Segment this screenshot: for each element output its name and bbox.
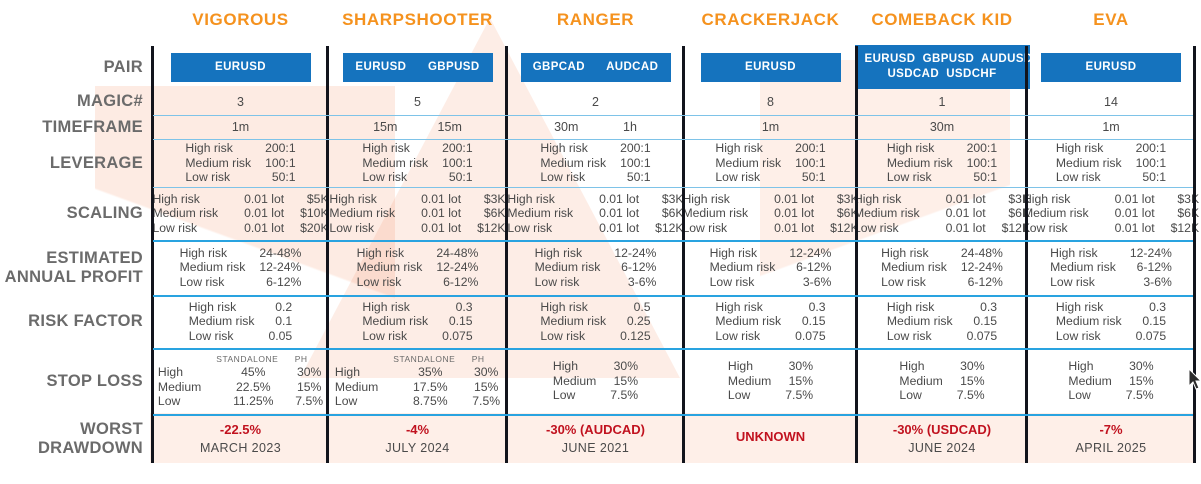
annual-profit-low: 3-6% xyxy=(789,275,831,290)
scaling-table: High risk0.01 lot$3KMedium risk0.01 lot$… xyxy=(682,192,858,236)
stop-loss-row: Medium15% xyxy=(899,374,984,389)
timeframe-value: 1m xyxy=(232,120,249,134)
scaling-amount-high: $3K xyxy=(639,192,683,207)
annual-profit-low: 6-12% xyxy=(259,275,301,290)
risk-label-high: High risk xyxy=(887,141,967,156)
scaling-amount-medium: $6K xyxy=(814,206,858,221)
stop-loss-standalone-header: STANDALONE xyxy=(215,353,279,365)
risk-row: High risk0.5 xyxy=(540,300,650,315)
risk-label-high: High risk xyxy=(189,300,269,315)
risk-label-medium: Medium risk xyxy=(189,314,269,329)
column-separator xyxy=(1025,46,1028,463)
annual-profit-medium: 6-12% xyxy=(614,260,656,275)
risk-row: Medium risk12-24% xyxy=(180,260,302,275)
worst-drawdown-value: UNKNOWN xyxy=(736,429,805,444)
row-label-timeframe: TIMEFRAME xyxy=(0,115,143,139)
annual-profit-medium: 12-24% xyxy=(436,260,478,275)
stop-loss-standalone-medium: 22.5% xyxy=(215,380,279,395)
stop-loss-label-low: Low xyxy=(158,394,215,409)
risk-row: Medium risk0.01 lot$6K xyxy=(507,206,683,221)
annual-profit-high: 12-24% xyxy=(614,246,656,261)
leverage-high: 200:1 xyxy=(795,141,826,156)
column-separator xyxy=(326,46,329,463)
spacer xyxy=(158,353,215,365)
risk-factor-high: 0.3 xyxy=(967,300,998,315)
risk-factor-medium: 0.15 xyxy=(795,314,826,329)
scaling-table: High risk0.01 lot$3KMedium risk0.01 lot$… xyxy=(507,192,683,236)
stop-loss-label-high: High xyxy=(553,359,610,374)
risk-row: Low risk0.075 xyxy=(715,329,825,344)
risk-row: Medium risk100:1 xyxy=(362,156,472,171)
column-separator xyxy=(682,46,685,463)
stop-loss-standalone-low: 11.25% xyxy=(215,394,279,409)
stop-loss-standalone-low: 7.5% xyxy=(1126,388,1154,403)
risk-row: Medium risk0.01 lot$6K xyxy=(682,206,858,221)
pair-cell: EURUSD GBPUSD AUDUSD USDCAD USDCHF xyxy=(857,46,1027,88)
risk-label-high: High risk xyxy=(1056,141,1136,156)
stop-loss-cell: High30%Medium15%Low7.5% xyxy=(857,348,1027,414)
stop-loss-standalone-high: 45% xyxy=(215,365,279,380)
risk-label-medium: Medium risk xyxy=(329,206,409,221)
worst-drawdown-value: -30% (USDCAD) xyxy=(893,422,991,437)
stop-loss-table: STANDALONEPHHigh35%30%Medium17.5%15%Low8… xyxy=(335,353,500,409)
risk-label-medium: Medium risk xyxy=(1050,260,1130,275)
risk-row: High risk24-48% xyxy=(881,246,1003,261)
risk-label-medium: Medium risk xyxy=(362,156,442,171)
risk-label-high: High risk xyxy=(715,141,795,156)
column-header-eva: EVA xyxy=(1027,8,1195,32)
risk-label-medium: Medium risk xyxy=(854,206,934,221)
stop-loss-cell: High30%Medium15%Low7.5% xyxy=(1027,348,1195,414)
magic-number-cell: 2 xyxy=(507,88,684,115)
pair-cell: EURUSD xyxy=(684,46,857,88)
row-separator xyxy=(153,240,1193,242)
risk-factor-low: 0.075 xyxy=(967,329,998,344)
risk-factor-table: High risk0.2Medium risk0.1Low risk0.05 xyxy=(189,300,292,344)
magic-number-cell: 14 xyxy=(1027,88,1195,115)
pair-chip[interactable]: EURUSD xyxy=(1041,53,1181,82)
leverage-table: High risk200:1Medium risk100:1Low risk50… xyxy=(362,141,472,185)
risk-row: Low risk50:1 xyxy=(1056,170,1166,185)
leverage-low: 50:1 xyxy=(967,170,998,185)
risk-factor-medium: 0.15 xyxy=(1136,314,1167,329)
risk-row: Medium risk0.15 xyxy=(1056,314,1166,329)
risk-label-low: Low risk xyxy=(854,221,934,236)
risk-row: Low risk50:1 xyxy=(715,170,825,185)
column-header-comeback-kid: COMEBACK KID xyxy=(857,8,1027,32)
magic-number-cell: 5 xyxy=(328,88,507,115)
stop-loss-table: STANDALONEPHHigh45%30%Medium22.5%15%Low1… xyxy=(158,353,323,409)
column-header-vigorous: VIGOROUS xyxy=(153,8,328,32)
annual-profit-table: High risk12-24%Medium risk6-12%Low risk3… xyxy=(710,246,832,290)
annual-profit-table: High risk12-24%Medium risk6-12%Low risk3… xyxy=(535,246,657,290)
stop-loss-standalone-low: 8.75% xyxy=(392,394,456,409)
stop-loss-ph-high: 30% xyxy=(279,365,323,380)
stop-loss-row: High45%30% xyxy=(158,365,323,380)
timeframe-cell: 30m1h xyxy=(507,115,684,139)
scaling-lot-medium: 0.01 lot xyxy=(409,206,461,221)
row-label-pair: PAIR xyxy=(0,46,143,88)
risk-factor-medium: 0.15 xyxy=(442,314,473,329)
annual-profit-low: 6-12% xyxy=(436,275,478,290)
stop-loss-standalone-high: 30% xyxy=(785,359,813,374)
stop-loss-ph-header: PH xyxy=(279,353,323,365)
magic-number-value: 8 xyxy=(767,95,774,109)
column-separator xyxy=(1193,46,1196,463)
risk-row: Low risk0.01 lot$12K xyxy=(854,221,1030,236)
risk-label-high: High risk xyxy=(682,192,762,207)
risk-row: High risk0.3 xyxy=(715,300,825,315)
timeframe-value: 1h xyxy=(623,120,637,134)
row-separator xyxy=(153,115,1193,116)
annual-profit-cell: High risk12-24%Medium risk6-12%Low risk3… xyxy=(507,240,684,295)
annual-profit-high: 24-48% xyxy=(259,246,301,261)
worst-drawdown-value: -4% xyxy=(406,422,429,437)
risk-row: Medium risk12-24% xyxy=(881,260,1003,275)
stop-loss-cell: High30%Medium15%Low7.5% xyxy=(507,348,684,414)
leverage-medium: 100:1 xyxy=(442,156,473,171)
stop-loss-standalone-high: 30% xyxy=(610,359,638,374)
leverage-high: 200:1 xyxy=(620,141,651,156)
risk-row: Low risk50:1 xyxy=(362,170,472,185)
risk-row: High risk0.01 lot$3K xyxy=(329,192,505,207)
leverage-medium: 100:1 xyxy=(620,156,651,171)
leverage-cell: High risk200:1Medium risk100:1Low risk50… xyxy=(1027,139,1195,187)
pair-cell: EURUSD GBPUSD xyxy=(328,46,507,88)
leverage-table: High risk200:1Medium risk100:1Low risk50… xyxy=(540,141,650,185)
scaling-lot-high: 0.01 lot xyxy=(409,192,461,207)
stop-loss-row: Low7.5% xyxy=(1068,388,1153,403)
stop-loss-label-low: Low xyxy=(728,388,785,403)
row-label-leverage: LEVERAGE xyxy=(0,139,143,187)
annual-profit-table: High risk24-48%Medium risk12-24%Low risk… xyxy=(180,246,302,290)
stop-loss-label-low: Low xyxy=(899,388,956,403)
leverage-table: High risk200:1Medium risk100:1Low risk50… xyxy=(1056,141,1166,185)
risk-label-high: High risk xyxy=(1023,192,1103,207)
risk-row: Medium risk6-12% xyxy=(535,260,657,275)
column-header-ranger: RANGER xyxy=(507,8,684,32)
risk-factor-table: High risk0.3Medium risk0.15Low risk0.075 xyxy=(1056,300,1166,344)
scaling-lot-low: 0.01 lot xyxy=(934,221,986,236)
mouse-cursor xyxy=(1188,368,1201,392)
scaling-cell: High risk0.01 lot$3KMedium risk0.01 lot$… xyxy=(857,187,1027,240)
risk-row: High risk0.01 lot$3K xyxy=(854,192,1030,207)
leverage-high: 200:1 xyxy=(442,141,473,156)
risk-label-medium: Medium risk xyxy=(535,260,615,275)
stop-loss-standalone-medium: 15% xyxy=(957,374,985,389)
scaling-lot-medium: 0.01 lot xyxy=(1103,206,1155,221)
stop-loss-row: Low7.5% xyxy=(728,388,813,403)
scaling-amount-low: $12K xyxy=(461,221,505,236)
risk-label-low: Low risk xyxy=(1023,221,1103,236)
risk-label-low: Low risk xyxy=(1056,329,1136,344)
risk-row: Low risk6-12% xyxy=(357,275,479,290)
stop-loss-table: High30%Medium15%Low7.5% xyxy=(899,359,984,403)
risk-row: Low risk50:1 xyxy=(185,170,295,185)
risk-label-low: Low risk xyxy=(180,275,260,290)
risk-row: High risk0.2 xyxy=(189,300,292,315)
stop-loss-row: Low7.5% xyxy=(553,388,638,403)
risk-label-medium: Medium risk xyxy=(540,314,620,329)
risk-label-medium: Medium risk xyxy=(1056,156,1136,171)
pair-chip[interactable]: EURUSD xyxy=(171,53,311,82)
magic-number-value: 3 xyxy=(237,95,244,109)
risk-label-medium: Medium risk xyxy=(682,206,762,221)
risk-row: High risk0.01 lot$3K xyxy=(507,192,683,207)
stop-loss-table: High30%Medium15%Low7.5% xyxy=(728,359,813,403)
risk-row: High risk200:1 xyxy=(887,141,997,156)
risk-factor-low: 0.125 xyxy=(620,329,651,344)
stop-loss-ph-low: 7.5% xyxy=(456,394,500,409)
risk-label-medium: Medium risk xyxy=(1056,314,1136,329)
worst-drawdown-date: APRIL 2025 xyxy=(1076,441,1147,455)
timeframe-value: 15m xyxy=(438,120,462,134)
stop-loss-cell: STANDALONEPHHigh45%30%Medium22.5%15%Low1… xyxy=(153,348,328,414)
risk-label-medium: Medium risk xyxy=(185,156,265,171)
risk-row: Low risk0.01 lot$12K xyxy=(329,221,505,236)
risk-row: High risk24-48% xyxy=(357,246,479,261)
risk-row: Medium risk6-12% xyxy=(710,260,832,275)
risk-row: Low risk3-6% xyxy=(710,275,832,290)
leverage-high: 200:1 xyxy=(967,141,998,156)
scaling-lot-high: 0.01 lot xyxy=(762,192,814,207)
risk-factor-table: High risk0.3Medium risk0.15Low risk0.075 xyxy=(362,300,472,344)
pair-chip[interactable]: EURUSD xyxy=(701,53,841,82)
scaling-lot-low: 0.01 lot xyxy=(1103,221,1155,236)
stop-loss-label-low: Low xyxy=(335,394,392,409)
risk-label-high: High risk xyxy=(887,300,967,315)
leverage-medium: 100:1 xyxy=(967,156,998,171)
risk-factor-medium: 0.15 xyxy=(967,314,998,329)
stop-loss-label-medium: Medium xyxy=(1068,374,1125,389)
magic-number-value: 14 xyxy=(1104,95,1118,109)
stop-loss-row: High30% xyxy=(728,359,813,374)
scaling-cell: High risk0.01 lot$3KMedium risk0.01 lot$… xyxy=(684,187,857,240)
stop-loss-row: High35%30% xyxy=(335,365,500,380)
risk-label-low: Low risk xyxy=(362,329,442,344)
risk-factor-high: 0.3 xyxy=(795,300,826,315)
leverage-cell: High risk200:1Medium risk100:1Low risk50… xyxy=(507,139,684,187)
stop-loss-standalone-medium: 15% xyxy=(610,374,638,389)
risk-factor-medium: 0.25 xyxy=(620,314,651,329)
stop-loss-cell: STANDALONEPHHigh35%30%Medium17.5%15%Low8… xyxy=(328,348,507,414)
risk-label-low: Low risk xyxy=(887,329,967,344)
risk-row: Low risk50:1 xyxy=(887,170,997,185)
stop-loss-ph-header: PH xyxy=(456,353,500,365)
row-label-scaling: SCALING xyxy=(0,187,143,240)
magic-number-value: 1 xyxy=(939,95,946,109)
risk-label-low: Low risk xyxy=(185,170,265,185)
scaling-amount-high: $3K xyxy=(461,192,505,207)
risk-label-low: Low risk xyxy=(535,275,615,290)
risk-label-medium: Medium risk xyxy=(715,314,795,329)
stop-loss-row: High30% xyxy=(553,359,638,374)
magic-number-cell: 8 xyxy=(684,88,857,115)
risk-label-low: Low risk xyxy=(887,170,967,185)
stop-loss-label-high: High xyxy=(899,359,956,374)
stop-loss-standalone-low: 7.5% xyxy=(957,388,985,403)
stop-loss-table: High30%Medium15%Low7.5% xyxy=(1068,359,1153,403)
timeframe-row: 30m1h xyxy=(532,120,659,134)
stop-loss-row: Medium22.5%15% xyxy=(158,380,323,395)
risk-factor-table: High risk0.3Medium risk0.15Low risk0.075 xyxy=(715,300,825,344)
risk-label-low: Low risk xyxy=(329,221,409,236)
leverage-table: High risk200:1Medium risk100:1Low risk50… xyxy=(715,141,825,185)
annual-profit-table: High risk12-24%Medium risk6-12%Low risk3… xyxy=(1050,246,1172,290)
risk-row: High risk0.3 xyxy=(362,300,472,315)
risk-row: Low risk3-6% xyxy=(535,275,657,290)
magic-number-cell: 1 xyxy=(857,88,1027,115)
worst-drawdown-cell: -30% (AUDCAD)JUNE 2021 xyxy=(507,414,684,463)
annual-profit-medium: 6-12% xyxy=(789,260,831,275)
risk-row: Medium risk0.01 lot$10K xyxy=(152,206,328,221)
risk-label-medium: Medium risk xyxy=(357,260,437,275)
risk-label-medium: Medium risk xyxy=(180,260,260,275)
risk-row: High risk0.3 xyxy=(1056,300,1166,315)
timeframe-cell: 15m15m xyxy=(328,115,507,139)
row-label-worst-drawdown: WORSTDRAWDOWN xyxy=(0,414,143,463)
risk-label-high: High risk xyxy=(185,141,265,156)
risk-row: High risk200:1 xyxy=(185,141,295,156)
magic-number-value: 2 xyxy=(592,95,599,109)
pair-chip[interactable]: EURUSD GBPUSD AUDUSD USDCAD USDCHF xyxy=(855,45,1030,89)
risk-row: Medium risk100:1 xyxy=(540,156,650,171)
risk-label-high: High risk xyxy=(535,246,615,261)
risk-label-high: High risk xyxy=(362,141,442,156)
risk-factor-cell: High risk0.3Medium risk0.15Low risk0.075 xyxy=(684,295,857,348)
risk-factor-cell: High risk0.3Medium risk0.15Low risk0.075 xyxy=(328,295,507,348)
stop-loss-label-medium: Medium xyxy=(158,380,215,395)
annual-profit-cell: High risk12-24%Medium risk6-12%Low risk3… xyxy=(1027,240,1195,295)
row-separator xyxy=(153,295,1193,297)
risk-label-low: Low risk xyxy=(1056,170,1136,185)
risk-row: Medium risk0.15 xyxy=(715,314,825,329)
scaling-lot-medium: 0.01 lot xyxy=(232,206,284,221)
row-label-risk-factor: RISK FACTOR xyxy=(0,295,143,348)
risk-factor-high: 0.5 xyxy=(620,300,651,315)
scaling-lot-high: 0.01 lot xyxy=(1103,192,1155,207)
risk-row: High risk200:1 xyxy=(1056,141,1166,156)
timeframe-cell: 1m xyxy=(153,115,328,139)
stop-loss-label-high: High xyxy=(728,359,785,374)
scaling-table: High risk0.01 lot$3KMedium risk0.01 lot$… xyxy=(329,192,505,236)
pair-chip[interactable]: GBPCAD AUDCAD xyxy=(521,53,671,82)
row-label-stop-loss: STOP LOSS xyxy=(0,348,143,414)
risk-label-low: Low risk xyxy=(507,221,587,236)
annual-profit-medium: 12-24% xyxy=(259,260,301,275)
stop-loss-ph-medium: 15% xyxy=(456,380,500,395)
stop-loss-standalone-low: 7.5% xyxy=(785,388,813,403)
worst-drawdown-date: JULY 2024 xyxy=(385,441,449,455)
risk-label-low: Low risk xyxy=(715,170,795,185)
stop-loss-row: High30% xyxy=(899,359,984,374)
stop-loss-standalone-medium: 15% xyxy=(1126,374,1154,389)
stop-loss-row: High30% xyxy=(1068,359,1153,374)
risk-label-medium: Medium risk xyxy=(507,206,587,221)
scaling-lot-low: 0.01 lot xyxy=(587,221,639,236)
scaling-cell: High risk0.01 lot$3KMedium risk0.01 lot$… xyxy=(1027,187,1195,240)
stop-loss-standalone-high: 35% xyxy=(392,365,456,380)
scaling-amount-low: $20K xyxy=(284,221,328,236)
scaling-amount-medium: $10K xyxy=(284,206,328,221)
leverage-low: 50:1 xyxy=(265,170,296,185)
risk-row: Medium risk0.1 xyxy=(189,314,292,329)
annual-profit-table: High risk24-48%Medium risk12-24%Low risk… xyxy=(357,246,479,290)
stop-loss-ph-medium: 15% xyxy=(279,380,323,395)
risk-row: Low risk0.01 lot$12K xyxy=(682,221,858,236)
timeframe-cell: 1m xyxy=(1027,115,1195,139)
risk-factor-low: 0.05 xyxy=(268,329,292,344)
timeframe-row: 1m xyxy=(1027,120,1195,134)
column-separator xyxy=(505,46,508,463)
risk-label-low: Low risk xyxy=(710,275,790,290)
risk-label-high: High risk xyxy=(715,300,795,315)
magic-number-value: 5 xyxy=(414,95,421,109)
stop-loss-label-medium: Medium xyxy=(335,380,392,395)
scaling-amount-high: $3K xyxy=(814,192,858,207)
risk-row: Low risk0.075 xyxy=(887,329,997,344)
risk-factor-high: 0.3 xyxy=(1136,300,1167,315)
stop-loss-header-row: STANDALONEPH xyxy=(335,353,500,365)
stop-loss-label-high: High xyxy=(158,365,215,380)
annual-profit-high: 12-24% xyxy=(789,246,831,261)
annual-profit-high: 12-24% xyxy=(1130,246,1172,261)
stop-loss-row: Medium15% xyxy=(728,374,813,389)
risk-row: High risk0.01 lot$3K xyxy=(682,192,858,207)
risk-row: High risk12-24% xyxy=(535,246,657,261)
row-separator xyxy=(153,348,1193,350)
stop-loss-ph-low: 7.5% xyxy=(279,394,323,409)
risk-row: Medium risk100:1 xyxy=(1056,156,1166,171)
stop-loss-label-medium: Medium xyxy=(899,374,956,389)
risk-label-high: High risk xyxy=(362,300,442,315)
stop-loss-cell: High30%Medium15%Low7.5% xyxy=(684,348,857,414)
timeframe-row: 1m xyxy=(153,120,328,134)
scaling-cell: High risk0.01 lot$3KMedium risk0.01 lot$… xyxy=(328,187,507,240)
strategy-comparison-table: PAIRMAGIC#TIMEFRAMELEVERAGESCALINGESTIMA… xyxy=(0,0,1201,484)
scaling-amount-low: $12K xyxy=(639,221,683,236)
risk-row: Low risk0.075 xyxy=(362,329,472,344)
leverage-cell: High risk200:1Medium risk100:1Low risk50… xyxy=(857,139,1027,187)
column-header-sharpshooter: SHARPSHOOTER xyxy=(328,8,507,32)
leverage-low: 50:1 xyxy=(795,170,826,185)
risk-row: Medium risk0.01 lot$6K xyxy=(329,206,505,221)
pair-chip[interactable]: EURUSD GBPUSD xyxy=(343,53,493,82)
row-label-estimated-annual-profit: ESTIMATEDANNUAL PROFIT xyxy=(0,240,143,295)
worst-drawdown-value: -22.5% xyxy=(220,422,261,437)
scaling-lot-medium: 0.01 lot xyxy=(934,206,986,221)
stop-loss-label-high: High xyxy=(335,365,392,380)
stop-loss-standalone-high: 30% xyxy=(1126,359,1154,374)
stop-loss-ph-high: 30% xyxy=(456,365,500,380)
worst-drawdown-value: -30% (AUDCAD) xyxy=(546,422,645,437)
risk-row: High risk0.01 lot$3K xyxy=(1023,192,1199,207)
risk-row: High risk200:1 xyxy=(540,141,650,156)
scaling-table: High risk0.01 lot$3KMedium risk0.01 lot$… xyxy=(854,192,1030,236)
annual-profit-cell: High risk24-48%Medium risk12-24%Low risk… xyxy=(153,240,328,295)
risk-label-medium: Medium risk xyxy=(887,314,967,329)
scaling-amount-low: $12K xyxy=(814,221,858,236)
scaling-lot-low: 0.01 lot xyxy=(762,221,814,236)
risk-factor-low: 0.075 xyxy=(1136,329,1167,344)
risk-row: Medium risk100:1 xyxy=(185,156,295,171)
risk-row: Medium risk0.25 xyxy=(540,314,650,329)
pair-cell: EURUSD xyxy=(1027,46,1195,88)
annual-profit-low: 3-6% xyxy=(1130,275,1172,290)
risk-label-low: Low risk xyxy=(715,329,795,344)
risk-label-low: Low risk xyxy=(1050,275,1130,290)
risk-row: Medium risk12-24% xyxy=(357,260,479,275)
